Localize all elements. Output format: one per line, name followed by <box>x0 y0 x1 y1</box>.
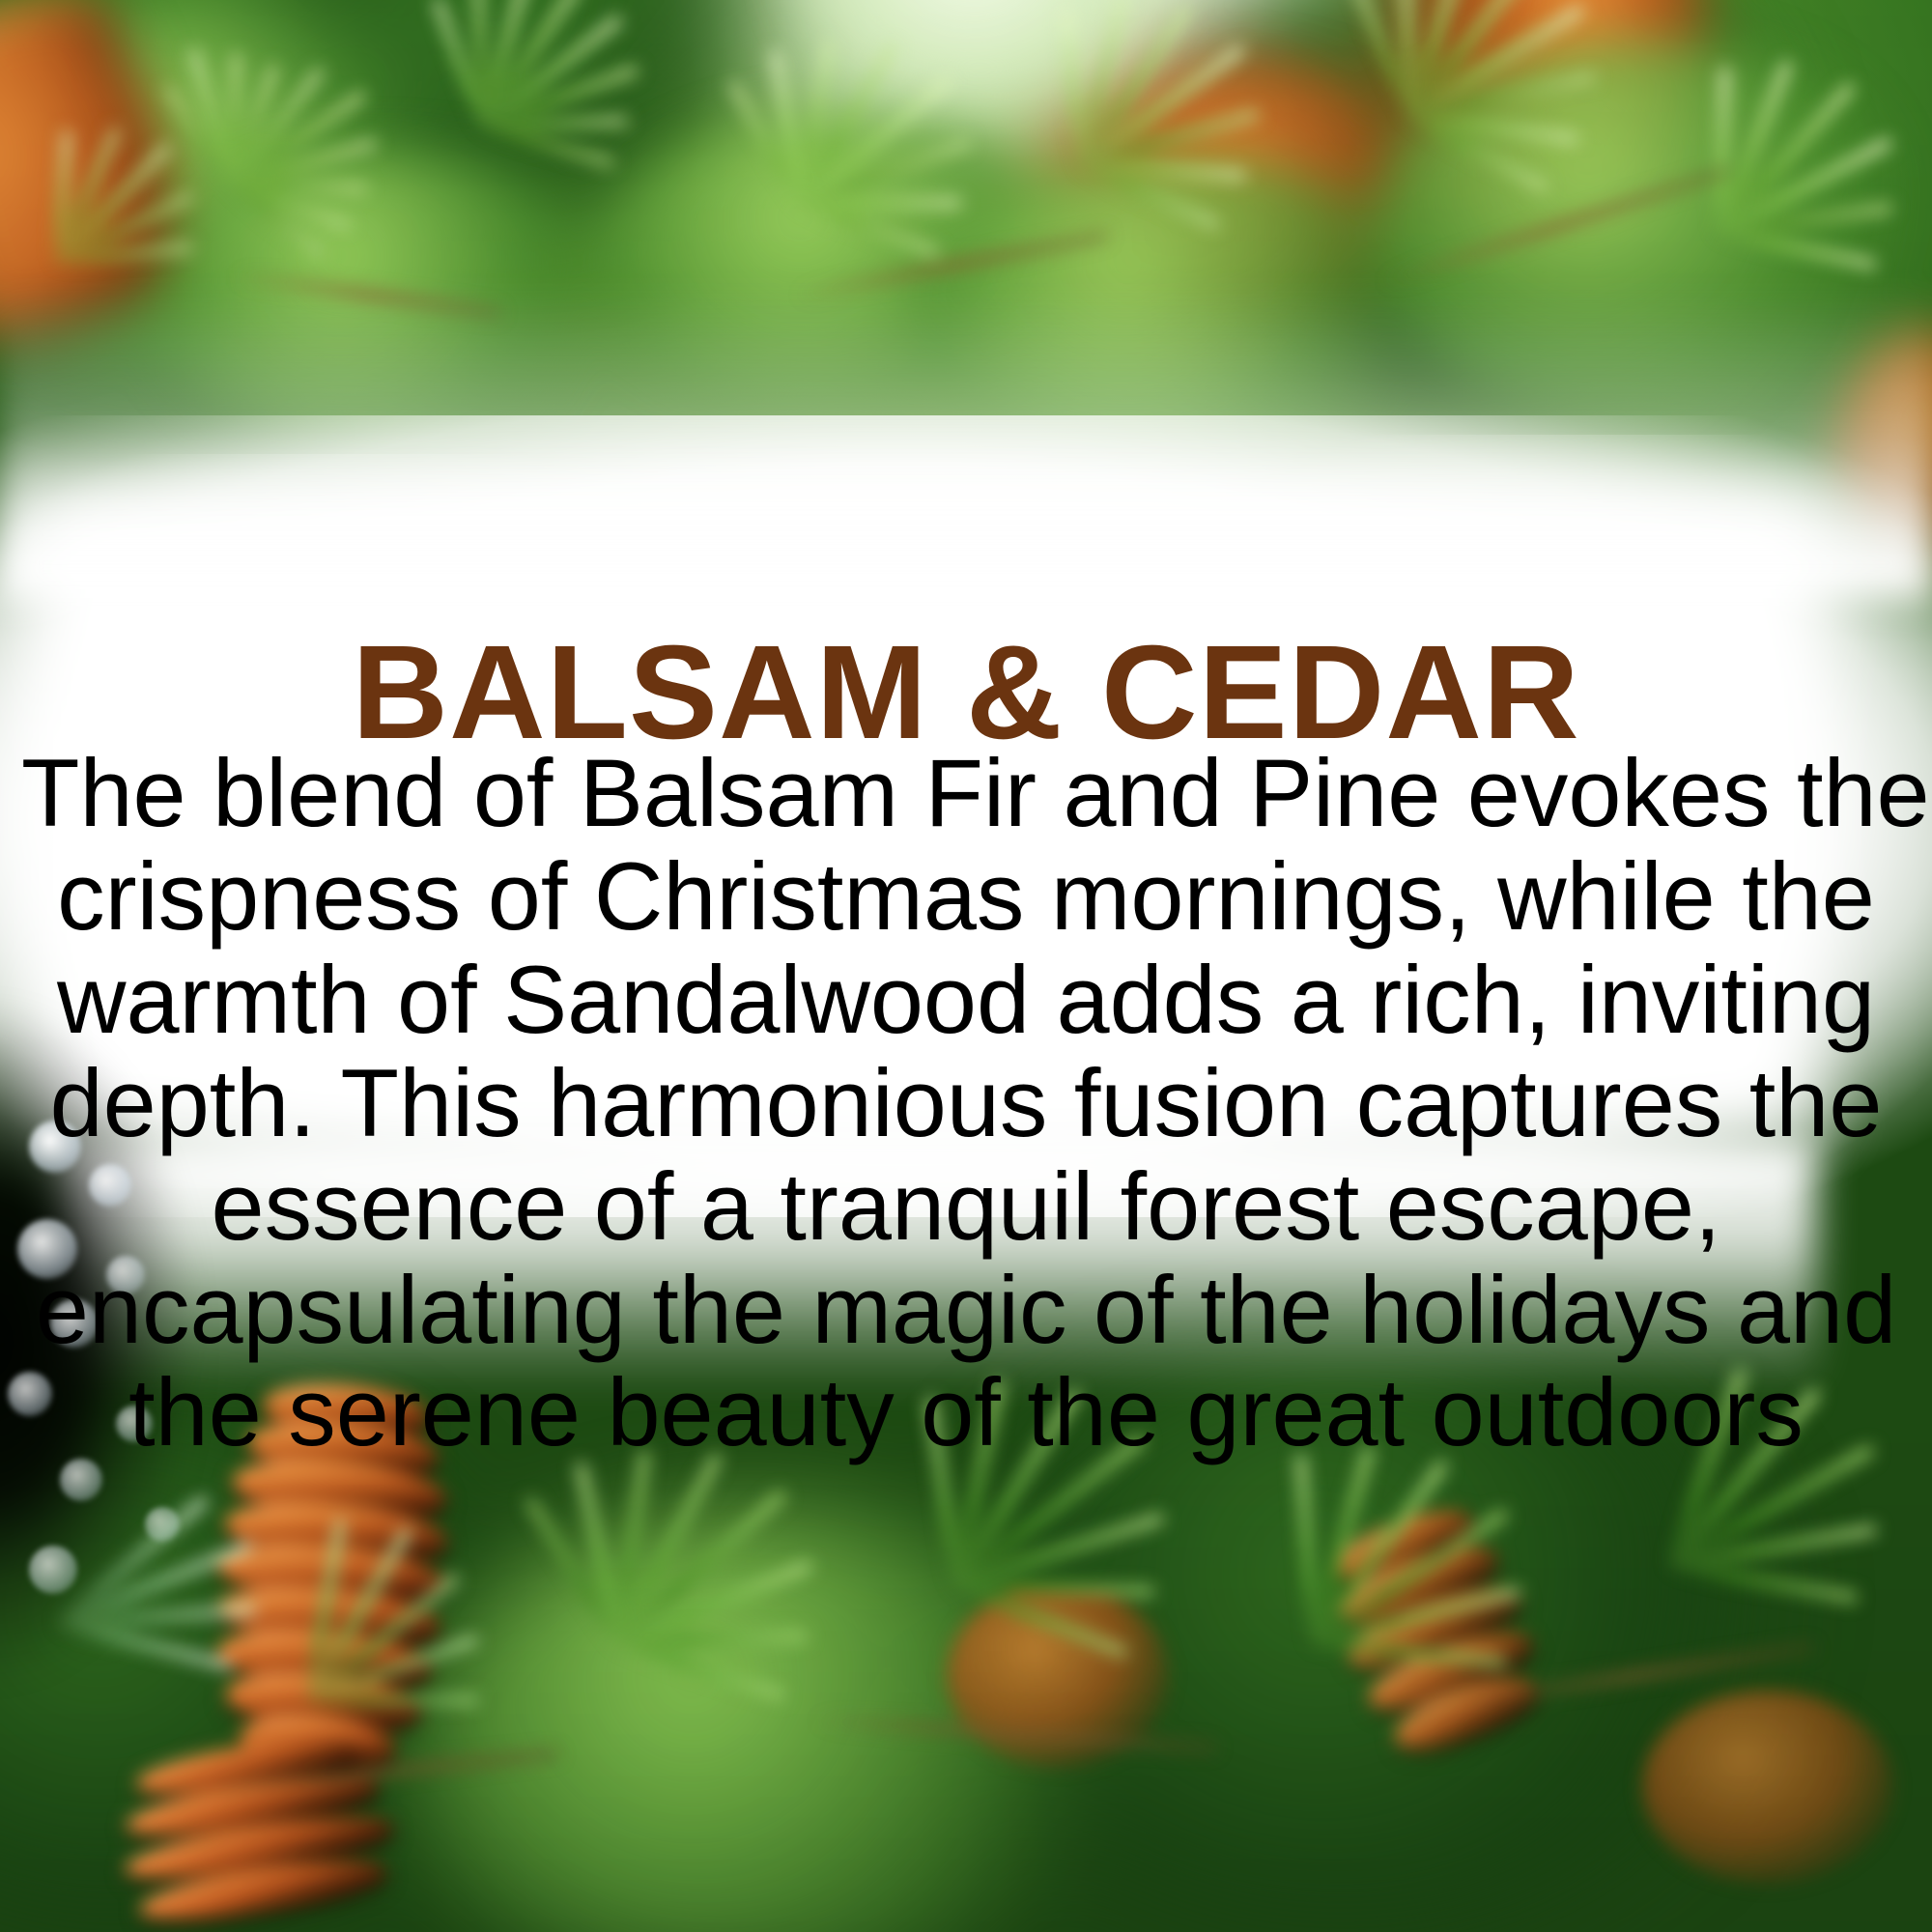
description-line: the serene beauty of the great outdoors <box>21 1361 1911 1464</box>
description-line: depth. This harmonious fusion captures t… <box>21 1052 1911 1155</box>
description-line: The blend of Balsam Fir and Pine evokes … <box>21 742 1911 845</box>
scent-description-card: BALSAM & CEDAR The blend of Balsam Fir a… <box>0 0 1932 1932</box>
description-line: essence of a tranquil forest escape, <box>21 1155 1911 1259</box>
description-line: crispness of Christmas mornings, while t… <box>21 845 1911 949</box>
description-paragraph: The blend of Balsam Fir and Pine evokes … <box>0 742 1932 1464</box>
description-line: encapsulating the magic of the holidays … <box>21 1259 1911 1362</box>
description-line: warmth of Sandalwood adds a rich, inviti… <box>21 949 1911 1052</box>
